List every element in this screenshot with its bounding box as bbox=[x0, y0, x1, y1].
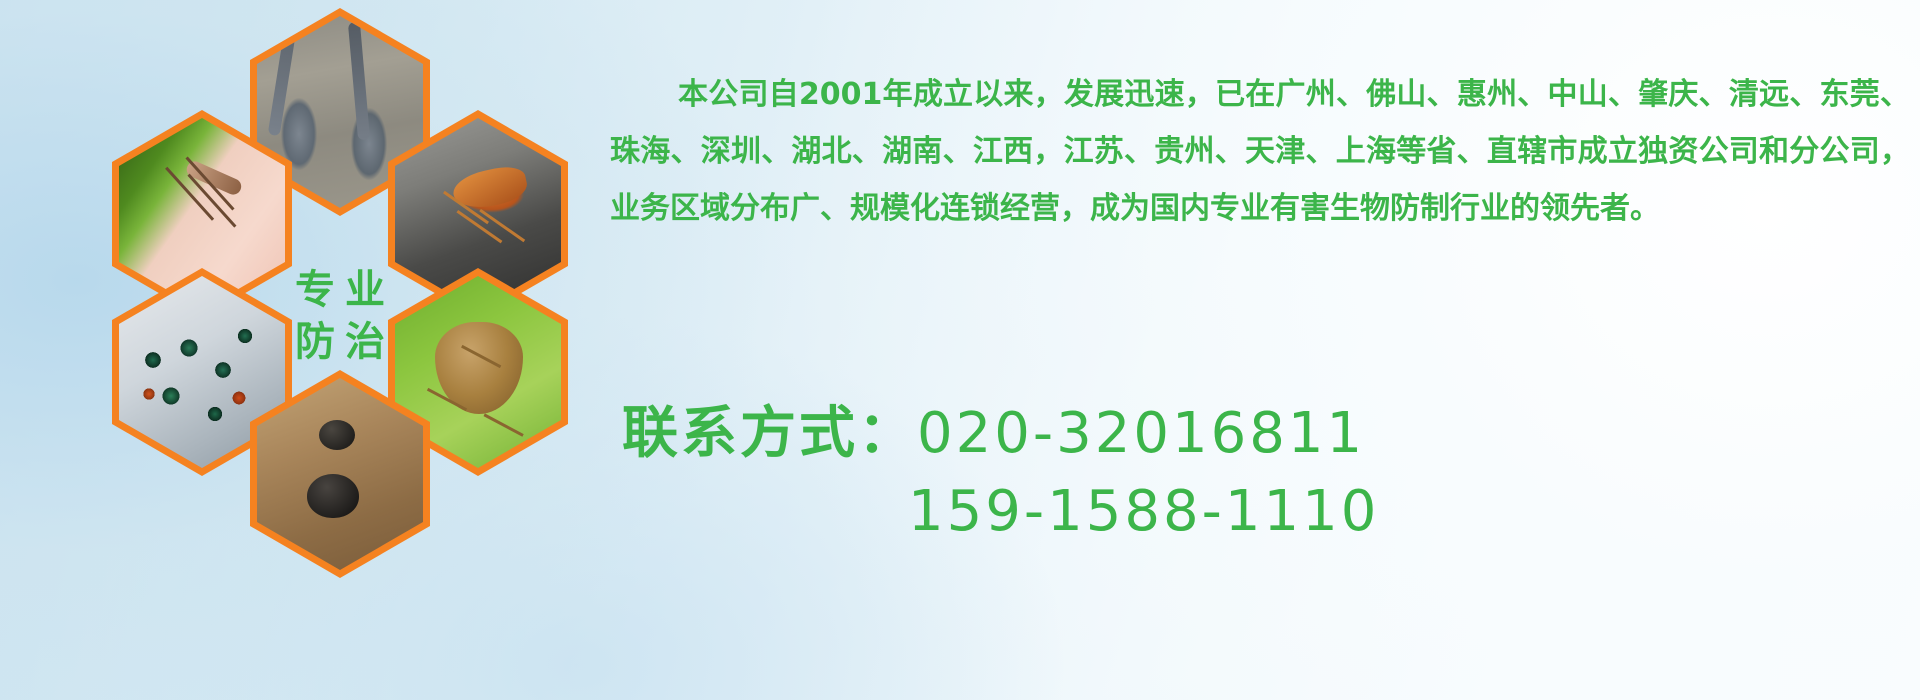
phone-mobile[interactable]: 159-1588-1110 bbox=[908, 479, 1379, 544]
slogan-line-2: 防治 bbox=[285, 322, 395, 362]
phone-landline[interactable]: 020-32016811 bbox=[917, 401, 1365, 466]
contact-block: 联系方式：020-32016811 159-1588-1110 bbox=[600, 395, 1920, 551]
company-intro-paragraph: 本公司自2001年成立以来，发展迅速，已在广州、佛山、惠州、中山、肇庆、清远、东… bbox=[610, 66, 1910, 237]
content-column: 本公司自2001年成立以来，发展迅速，已在广州、佛山、惠州、中山、肇庆、清远、东… bbox=[600, 0, 1920, 700]
pest-control-banner: 专业 防治 本公司自2001年成立以来，发展迅速，已在广州、佛山、惠州、中山、肇… bbox=[0, 0, 1920, 700]
contact-line-landline: 联系方式：020-32016811 bbox=[600, 395, 1920, 473]
contact-line-mobile: 159-1588-1110 bbox=[600, 473, 1920, 551]
contact-label: 联系方式： bbox=[622, 401, 917, 466]
honeycomb-gallery: 专业 防治 bbox=[0, 0, 620, 700]
slogan-line-1: 专业 bbox=[285, 270, 395, 310]
